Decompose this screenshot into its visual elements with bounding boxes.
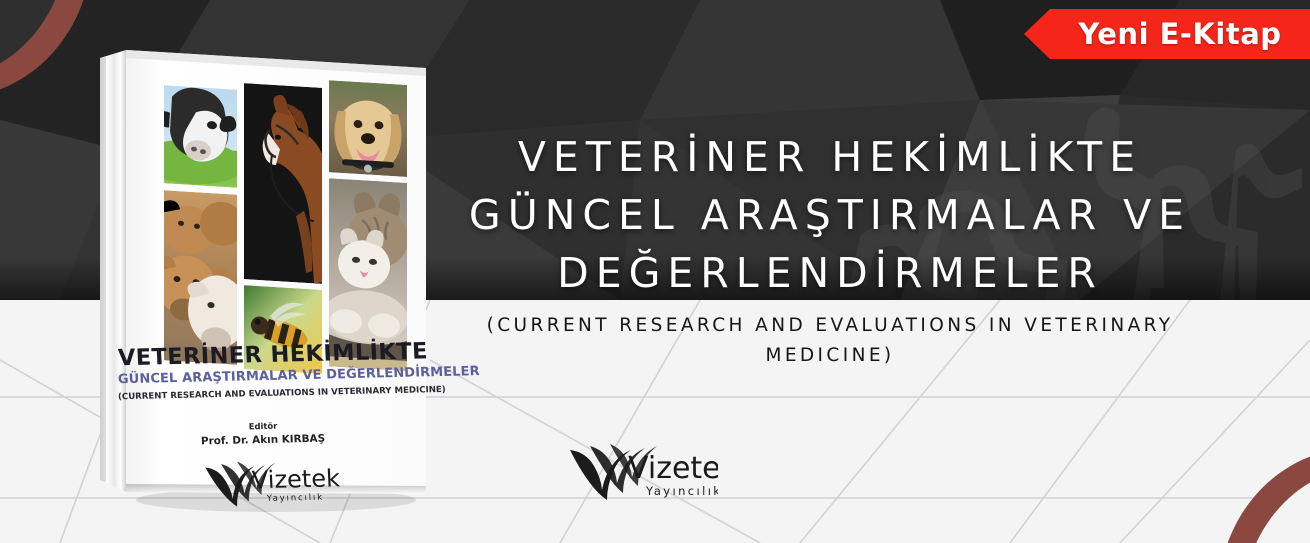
headline-line-3: DEĞERLENDİRMELER: [430, 244, 1230, 302]
new-ebook-badge-label: Yeni E-Kitap: [1024, 9, 1310, 59]
subtitle-line-1: (CURRENT RESEARCH AND EVALUATIONS IN VET…: [487, 315, 1174, 336]
new-ebook-badge[interactable]: Yeni E-Kitap: [1024, 9, 1310, 59]
calves-photo: [156, 190, 248, 366]
bottom-right-arc: [1218, 406, 1310, 543]
ebook-promo-banner: Yeni E-Kitap VETERİNER HEKİMLİKTE GÜNCEL…: [0, 0, 1310, 543]
bee-photo: [244, 285, 322, 374]
banner-headline: VETERİNER HEKİMLİKTE GÜNCEL ARAŞTIRMALAR…: [430, 128, 1230, 302]
headline-line-2: GÜNCEL ARAŞTIRMALAR VE: [430, 186, 1230, 244]
publisher-tagline: Yayıncılık: [645, 484, 718, 498]
publisher-logo[interactable]: Vizetek Yayıncılık: [568, 444, 718, 500]
book-mockup[interactable]: VETERİNER HEKİMLİKTE GÜNCEL ARAŞTIRMALAR…: [96, 24, 436, 514]
horse-photo: [244, 83, 332, 284]
cats-photo: [324, 178, 408, 371]
publisher-name: Vizetek: [628, 451, 718, 486]
subtitle-line-2: MEDICINE): [765, 345, 894, 366]
dog-photo: [329, 80, 407, 177]
headline-line-1: VETERİNER HEKİMLİKTE: [430, 128, 1230, 186]
top-left-arc: [0, 0, 92, 140]
book-3d: [96, 24, 436, 514]
vizetek-swoosh-icon: Vizetek Yayıncılık: [568, 444, 718, 500]
banner-subtitle: (CURRENT RESEARCH AND EVALUATIONS IN VET…: [430, 311, 1230, 371]
